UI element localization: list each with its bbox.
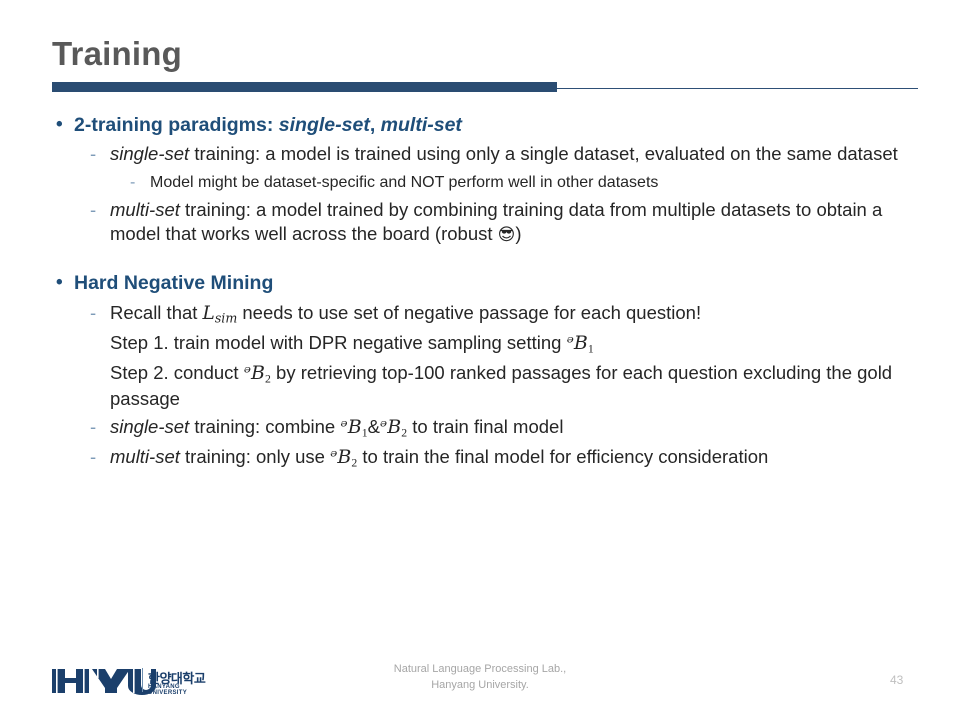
bullet-hard-negative-mining: • Hard Negative Mining <box>52 270 932 296</box>
slide-body: • 2-training paradigms: single-set, mult… <box>52 112 932 472</box>
script-p-glyph: ᵊB <box>244 362 265 384</box>
bullet-text: Hard Negative Mining <box>74 272 273 294</box>
math-base: L <box>203 303 215 324</box>
step-1-text: Step 1. train model with DPR negative sa… <box>110 332 567 353</box>
dash-icon: - <box>90 415 96 439</box>
sub-bullet-text: training: a model trained by combining t… <box>110 199 882 244</box>
dash-icon: - <box>130 173 135 194</box>
script-p-symbol: ᵊB2 <box>330 446 357 468</box>
math-subscript: sim <box>215 310 237 325</box>
script-p-symbol-1: ᵊB1 <box>340 416 367 438</box>
sub-bullet-text-end: ) <box>515 223 521 244</box>
sub-bullet-text-end: to train final model <box>407 416 563 437</box>
sub-bullet-multi-set-only: - multi-set training: only use ᵊB2 to tr… <box>90 445 932 471</box>
bullet-sep: , <box>370 114 381 136</box>
script-p-glyph: ᵊB <box>380 416 401 438</box>
script-p-symbol: ᵊB2 <box>244 362 271 384</box>
dash-icon: - <box>90 445 96 469</box>
script-p-glyph: ᵊB <box>330 446 351 468</box>
dash-icon: - <box>90 301 96 325</box>
ampersand: & <box>368 416 380 437</box>
sub-bullet-text: training: a model is trained using only … <box>189 143 898 164</box>
sub-bullet-text: training: combine <box>189 416 340 437</box>
sub-bullet-italic: multi-set <box>110 446 180 467</box>
math-loss-symbol: Lsim <box>203 303 238 324</box>
script-p-glyph: ᵊB <box>567 332 588 354</box>
bullet-text: 2-training paradigms: <box>74 114 279 136</box>
script-p-subscript: 1 <box>588 342 594 355</box>
dash-icon: - <box>90 142 96 166</box>
hyu-logo-english-text: HANYANG UNIVERSITY <box>148 684 210 696</box>
script-p-symbol: ᵊB1 <box>567 332 594 354</box>
step-1-line: Step 1. train model with DPR negative sa… <box>90 331 932 357</box>
sub-bullet-single-set-combine: - single-set training: combine ᵊB1&ᵊB2 t… <box>90 415 932 441</box>
bullet-italic-single-set: single-set <box>279 114 370 136</box>
sub-bullet-text: Recall that <box>110 302 203 323</box>
sub-bullet-single-set-training: - single-set training: a model is traine… <box>90 142 932 166</box>
sub-bullet-text-end: needs to use set of negative passage for… <box>237 302 701 323</box>
script-p-glyph: ᵊB <box>340 416 361 438</box>
slide: Training • 2-training paradigms: single-… <box>0 0 960 720</box>
sub-bullet-italic: single-set <box>110 143 189 164</box>
bullet-dot-icon: • <box>56 112 63 138</box>
step-2-line: Step 2. conduct ᵊB2 by retrieving top-10… <box>90 361 932 411</box>
sub-bullet-italic: multi-set <box>110 199 180 220</box>
sub-sub-bullet-text: Model might be dataset-specific and NOT … <box>150 174 658 191</box>
sub-bullet-text: training: only use <box>180 446 330 467</box>
bullet-training-paradigms: • 2-training paradigms: single-set, mult… <box>52 112 932 138</box>
section-gap <box>52 246 932 270</box>
page-number: 43 <box>890 673 903 687</box>
bullet-dot-icon: • <box>56 270 63 296</box>
sub-bullet-recall-loss: - Recall that Lsim needs to use set of n… <box>90 301 932 327</box>
sub-bullet-italic: single-set <box>110 416 189 437</box>
sunglasses-face-icon: 😎 <box>498 225 516 245</box>
logo-divider <box>142 668 143 692</box>
sub-bullet-text-end: to train the final model for efficiency … <box>357 446 768 467</box>
page-title: Training <box>52 36 182 72</box>
script-p-symbol-2: ᵊB2 <box>380 416 407 438</box>
step-2-text: Step 2. conduct <box>110 362 244 383</box>
bullet-italic-multi-set: multi-set <box>381 114 462 136</box>
sub-sub-bullet-dataset-specific: - Model might be dataset-specific and NO… <box>130 173 932 194</box>
sub-bullet-multi-set-training: - multi-set training: a model trained by… <box>90 198 932 247</box>
title-rule-thick <box>52 82 557 92</box>
hyu-logo: 한양대학교 HANYANG UNIVERSITY <box>50 667 210 701</box>
dash-icon: - <box>90 198 96 222</box>
